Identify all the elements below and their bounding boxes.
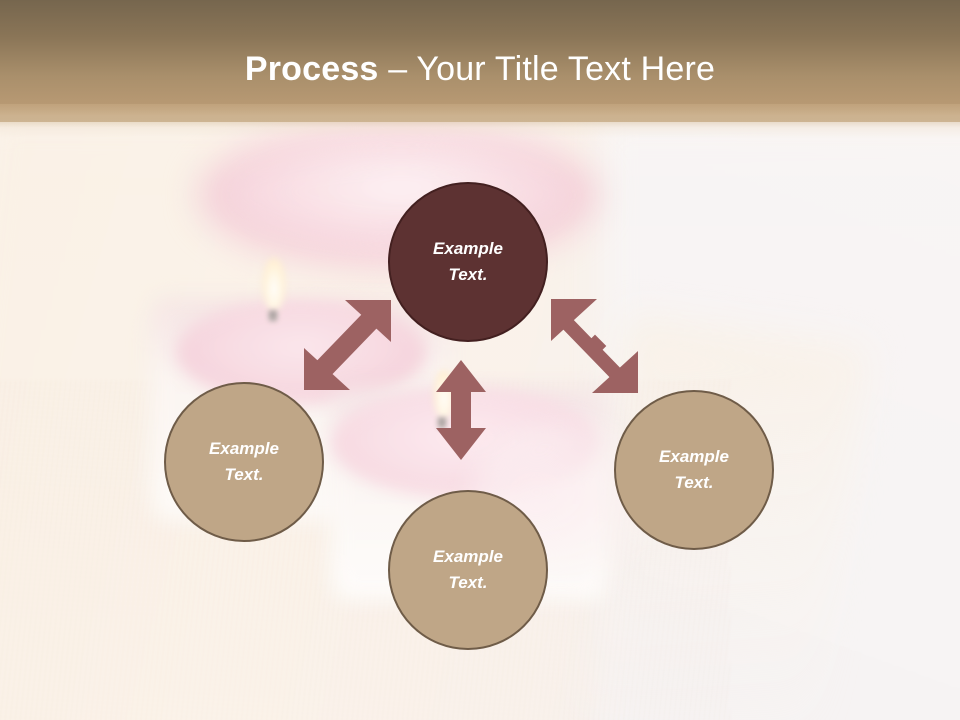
process-node-right-line1: Example (659, 444, 729, 470)
process-node-right[interactable]: Example Text. (614, 390, 774, 550)
connector-arrow-top-right[interactable] (543, 297, 647, 397)
process-node-right-line2: Text. (674, 470, 713, 496)
slide: Process – Your Title Text Here Example (0, 0, 960, 720)
page-title-rest: – Your Title Text Here (379, 50, 716, 88)
process-node-left-line2: Text. (224, 462, 263, 488)
process-node-top-line1: Example (433, 236, 503, 262)
process-node-left-line1: Example (209, 436, 279, 462)
connector-arrow-top-left[interactable] (296, 298, 400, 394)
connector-arrow-top-bottom[interactable] (434, 358, 488, 462)
process-node-top[interactable]: Example Text. (388, 182, 548, 342)
title-bar-fade (0, 104, 960, 138)
process-node-left[interactable]: Example Text. (164, 382, 324, 542)
process-node-bottom[interactable]: Example Text. (388, 490, 548, 650)
page-title-strong: Process (245, 50, 379, 88)
page-title: Process – Your Title Text Here (0, 49, 960, 89)
process-node-bottom-line1: Example (433, 544, 503, 570)
process-node-top-line2: Text. (448, 262, 487, 288)
process-node-bottom-line2: Text. (448, 570, 487, 596)
